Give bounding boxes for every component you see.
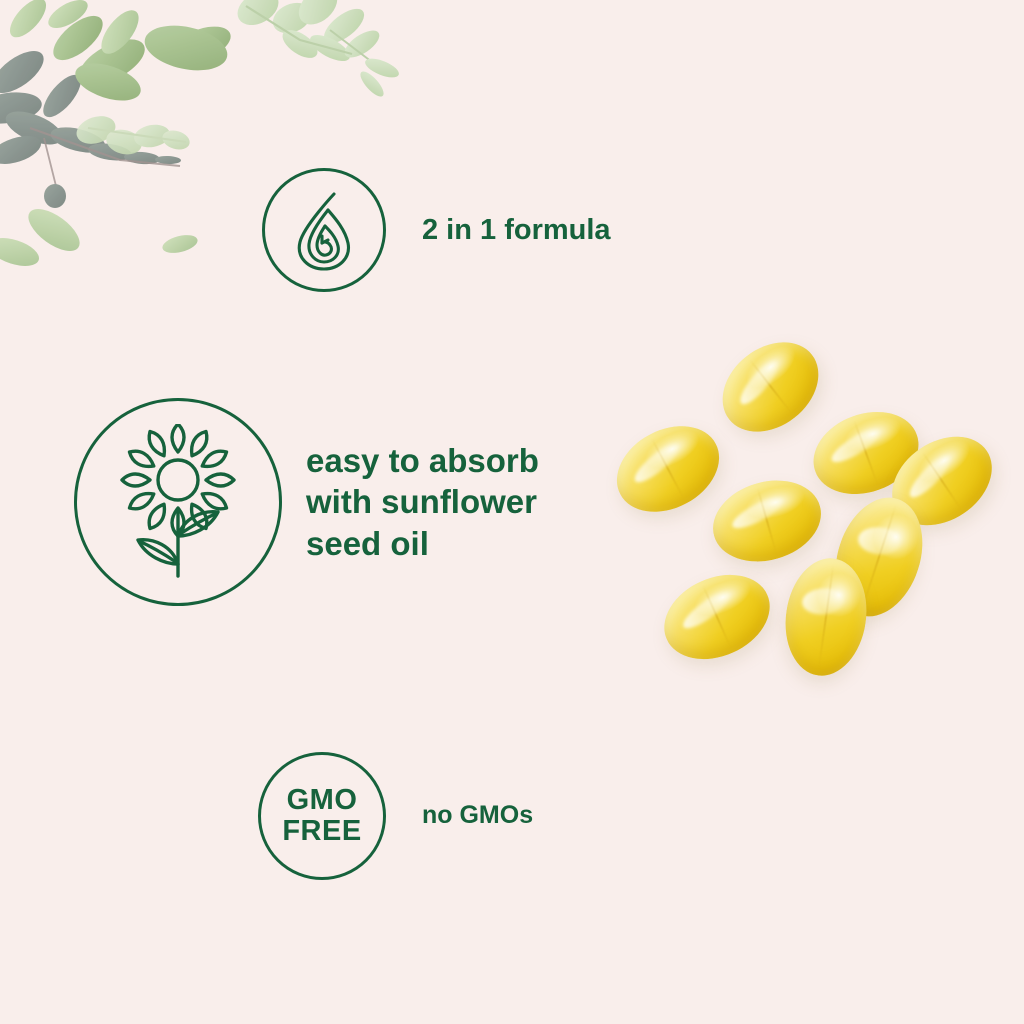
gmo-free-line-1: GMO <box>282 785 361 816</box>
gmo-free-badge: GMO FREE <box>258 752 386 880</box>
feature-row-absorb: easy to absorb with sunflower seed oil <box>74 398 539 606</box>
sunflower-badge <box>74 398 282 606</box>
water-drop-spiral-icon <box>278 184 370 276</box>
gmo-free-line-2: FREE <box>282 816 361 847</box>
softgel-capsules-image <box>600 330 1020 700</box>
feature-label-formula: 2 in 1 formula <box>422 213 611 247</box>
feature-label-absorb: easy to absorb with sunflower seed oil <box>306 440 539 565</box>
feature-row-gmo: GMO FREE no GMOs <box>258 752 533 880</box>
capsule <box>602 409 734 529</box>
capsule <box>705 324 836 450</box>
product-feature-graphic: 2 in 1 formula <box>0 0 1024 1024</box>
gmo-free-icon: GMO FREE <box>282 785 361 846</box>
capsule <box>651 559 783 675</box>
water-drop-spiral-badge <box>262 168 386 292</box>
capsule <box>703 468 830 573</box>
feature-label-gmo: no GMOs <box>422 801 533 831</box>
sunflower-icon <box>100 424 256 580</box>
feature-row-formula: 2 in 1 formula <box>262 168 611 292</box>
